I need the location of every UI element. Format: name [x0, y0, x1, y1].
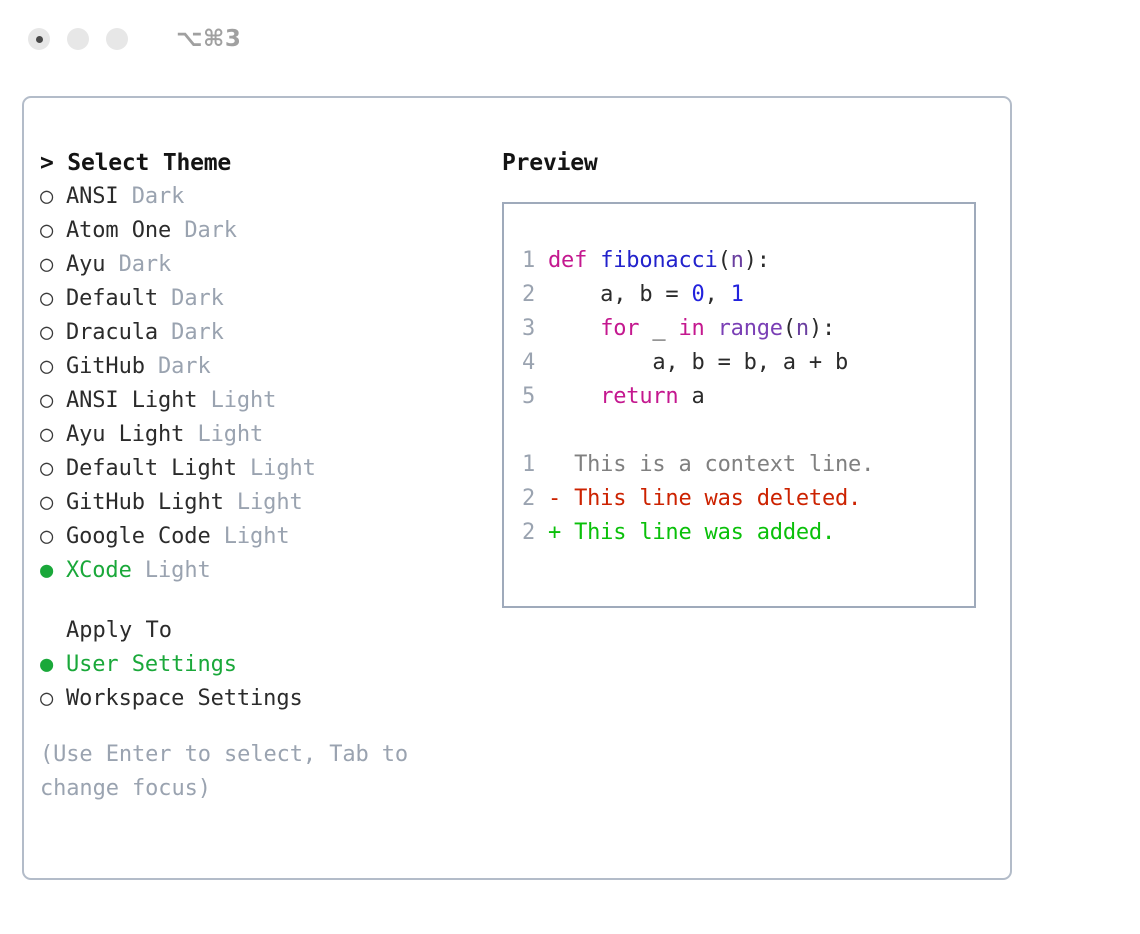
- theme-option-name: Dracula: [66, 320, 158, 345]
- theme-option-ansi-light[interactable]: ○ANSI Light Light: [40, 384, 480, 418]
- theme-option-name: Default Light: [66, 456, 237, 481]
- keyboard-shortcut-label: ⌥⌘3: [176, 26, 241, 52]
- theme-picker-panel: > Select Theme ○ANSI Dark○Atom One Dark○…: [22, 96, 1012, 880]
- radio-selected-icon: ●: [40, 648, 66, 682]
- theme-option-name: XCode: [66, 558, 132, 583]
- diff-text: This line was deleted.: [561, 486, 861, 511]
- code-line-number: 5: [522, 380, 548, 414]
- code-token: n: [796, 316, 809, 341]
- diff-line-number: 1: [522, 448, 548, 482]
- apply-to-option-workspace-settings[interactable]: ○Workspace Settings: [40, 682, 480, 716]
- theme-option-name: Atom One: [66, 218, 171, 243]
- theme-selection-column: > Select Theme ○ANSI Dark○Atom One Dark○…: [40, 146, 480, 806]
- window-controls: [28, 28, 128, 50]
- radio-unselected-icon: ○: [40, 418, 66, 452]
- code-line-number: 4: [522, 346, 548, 380]
- theme-option-dracula[interactable]: ○Dracula Dark: [40, 316, 480, 350]
- radio-unselected-icon: ○: [40, 248, 66, 282]
- code-sample: 1def fibonacci(n):2 a, b = 0, 13 for _ i…: [522, 244, 974, 414]
- theme-option-atom-one[interactable]: ○Atom One Dark: [40, 214, 480, 248]
- diff-text: This line was added.: [561, 520, 835, 545]
- apply-to-option-list[interactable]: ●User Settings○Workspace Settings: [40, 648, 480, 716]
- window-dot-second-icon[interactable]: [67, 28, 89, 50]
- code-token: [587, 248, 600, 273]
- theme-option-variant-tag: Dark: [119, 184, 185, 209]
- theme-option-variant-tag: Dark: [171, 218, 237, 243]
- code-token: 1: [731, 282, 744, 307]
- radio-unselected-icon: ○: [40, 682, 66, 716]
- code-line: 5 return a: [522, 380, 974, 414]
- code-token: ):: [809, 316, 835, 341]
- code-token: a, b =: [548, 282, 692, 307]
- diff-sign: +: [548, 520, 561, 545]
- radio-unselected-icon: ○: [40, 214, 66, 248]
- diff-line-number: 2: [522, 482, 548, 516]
- code-token: ,: [705, 282, 731, 307]
- theme-option-github[interactable]: ○GitHub Dark: [40, 350, 480, 384]
- diff-line-number: 2: [522, 516, 548, 550]
- diff-line-del: 2- This line was deleted.: [522, 482, 974, 516]
- code-token: in: [678, 316, 704, 341]
- code-token: [548, 384, 600, 409]
- code-token: a, b = b, a + b: [548, 350, 848, 375]
- code-line: 3 for _ in range(n):: [522, 312, 974, 346]
- theme-option-google-code[interactable]: ○Google Code Light: [40, 520, 480, 554]
- code-token: def: [548, 248, 587, 273]
- preview-code-box: 1def fibonacci(n):2 a, b = 0, 13 for _ i…: [502, 202, 976, 608]
- radio-unselected-icon: ○: [40, 452, 66, 486]
- theme-option-list[interactable]: ○ANSI Dark○Atom One Dark○Ayu Dark○Defaul…: [40, 180, 480, 588]
- theme-option-name: ANSI Light: [66, 388, 197, 413]
- apply-to-heading: Apply To: [40, 614, 480, 648]
- theme-option-xcode[interactable]: ●XCode Light: [40, 554, 480, 588]
- theme-option-github-light[interactable]: ○GitHub Light Light: [40, 486, 480, 520]
- code-token: [548, 316, 600, 341]
- theme-option-variant-tag: Dark: [145, 354, 211, 379]
- diff-line-ctx: 1 This is a context line.: [522, 448, 974, 482]
- theme-option-variant-tag: Light: [132, 558, 211, 583]
- code-token: return: [600, 384, 678, 409]
- radio-unselected-icon: ○: [40, 486, 66, 520]
- window-titlebar: ⌥⌘3: [0, 0, 1140, 78]
- theme-option-variant-tag: Dark: [158, 320, 224, 345]
- theme-option-variant-tag: Light: [237, 456, 316, 481]
- code-line: 4 a, b = b, a + b: [522, 346, 974, 380]
- theme-option-variant-tag: Dark: [105, 252, 171, 277]
- theme-option-name: Default: [66, 286, 158, 311]
- code-token: 0: [692, 282, 705, 307]
- apply-to-option-name: User Settings: [66, 652, 237, 677]
- diff-sample: 1 This is a context line.2- This line wa…: [522, 448, 974, 550]
- radio-selected-icon: ●: [40, 554, 66, 588]
- radio-unselected-icon: ○: [40, 316, 66, 350]
- code-line: 1def fibonacci(n):: [522, 244, 974, 278]
- code-line-number: 3: [522, 312, 548, 346]
- diff-sign: [548, 452, 561, 477]
- code-token: ):: [744, 248, 770, 273]
- theme-option-ayu[interactable]: ○Ayu Dark: [40, 248, 480, 282]
- code-token: range: [718, 316, 783, 341]
- diff-text: This is a context line.: [561, 452, 874, 477]
- theme-option-default[interactable]: ○Default Dark: [40, 282, 480, 316]
- code-token: a: [678, 384, 704, 409]
- theme-option-variant-tag: Light: [197, 388, 276, 413]
- radio-unselected-icon: ○: [40, 384, 66, 418]
- window-dot-third-icon[interactable]: [106, 28, 128, 50]
- theme-option-name: Ayu: [66, 252, 105, 277]
- theme-option-variant-tag: Light: [184, 422, 263, 447]
- keyboard-hint-line-1: (Use Enter to select, Tab to: [40, 738, 450, 772]
- theme-option-name: ANSI: [66, 184, 119, 209]
- code-line: 2 a, b = 0, 1: [522, 278, 974, 312]
- theme-option-variant-tag: Light: [224, 490, 303, 515]
- code-token: _: [639, 316, 678, 341]
- theme-option-variant-tag: Light: [211, 524, 290, 549]
- code-token: fibonacci: [600, 248, 717, 273]
- theme-option-name: GitHub Light: [66, 490, 224, 515]
- code-line-number: 2: [522, 278, 548, 312]
- theme-option-ansi[interactable]: ○ANSI Dark: [40, 180, 480, 214]
- radio-unselected-icon: ○: [40, 520, 66, 554]
- select-theme-heading: > Select Theme: [40, 146, 480, 180]
- code-token: n: [731, 248, 744, 273]
- radio-unselected-icon: ○: [40, 180, 66, 214]
- apply-to-option-user-settings[interactable]: ●User Settings: [40, 648, 480, 682]
- code-diff-gap: [522, 414, 974, 448]
- code-token: [705, 316, 718, 341]
- code-line-number: 1: [522, 244, 548, 278]
- window-dot-active-icon[interactable]: [28, 28, 50, 50]
- keyboard-hint-line-2: change focus): [40, 772, 450, 806]
- code-token: (: [718, 248, 731, 273]
- theme-option-variant-tag: Dark: [158, 286, 224, 311]
- theme-option-name: Ayu Light: [66, 422, 184, 447]
- diff-line-add: 2+ This line was added.: [522, 516, 974, 550]
- preview-column: Preview 1def fibonacci(n):2 a, b = 0, 13…: [502, 146, 992, 608]
- diff-sign: -: [548, 486, 561, 511]
- radio-unselected-icon: ○: [40, 282, 66, 316]
- theme-option-name: Google Code: [66, 524, 211, 549]
- code-token: (: [783, 316, 796, 341]
- apply-to-option-name: Workspace Settings: [66, 686, 303, 711]
- radio-unselected-icon: ○: [40, 350, 66, 384]
- keyboard-hint-text: (Use Enter to select, Tab to change focu…: [40, 738, 450, 806]
- code-token: for: [600, 316, 639, 341]
- app-root: ⌥⌘3 > Select Theme ○ANSI Dark○Atom One D…: [0, 0, 1140, 934]
- theme-option-ayu-light[interactable]: ○Ayu Light Light: [40, 418, 480, 452]
- theme-option-default-light[interactable]: ○Default Light Light: [40, 452, 480, 486]
- preview-heading: Preview: [502, 146, 992, 180]
- apply-to-spacer: [40, 588, 480, 614]
- theme-option-name: GitHub: [66, 354, 145, 379]
- hint-spacer: [40, 716, 480, 738]
